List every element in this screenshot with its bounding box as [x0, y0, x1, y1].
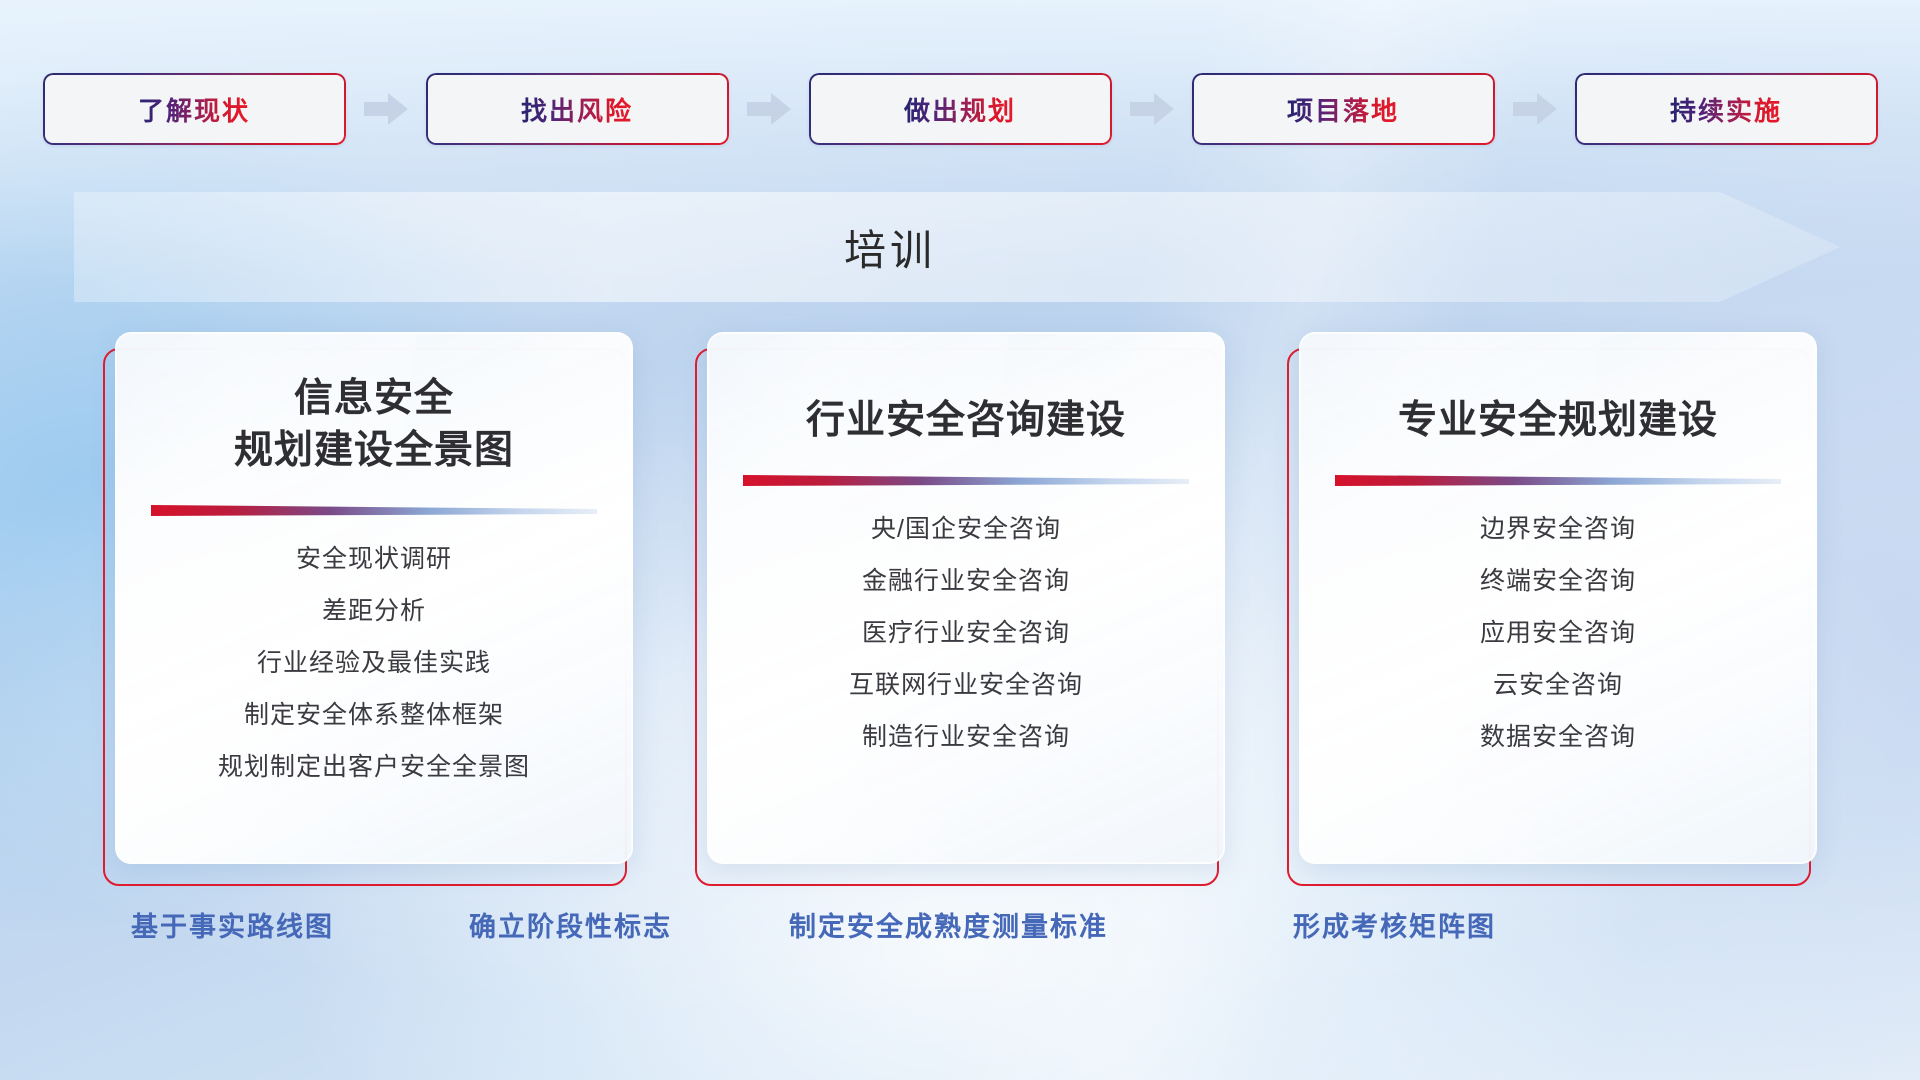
arrow-right-icon	[1513, 92, 1557, 126]
card-1-title: 信息安全 规划建设全景图	[116, 373, 632, 477]
card-3-panel[interactable]: 专业安全规划建设	[1299, 332, 1817, 864]
step-box-1[interactable]: 了解现状	[43, 73, 346, 145]
card-2-panel[interactable]: 行业安全咨询建设	[707, 332, 1225, 864]
list-item: 差距分析	[322, 599, 426, 624]
list-item: 行业经验及最佳实践	[257, 651, 491, 676]
list-item: 互联网行业安全咨询	[849, 673, 1083, 698]
list-item: 数据安全咨询	[1480, 725, 1636, 750]
caption-3: 制定安全成熟度测量标准	[789, 905, 1108, 944]
step-box-4[interactable]: 项目落地	[1192, 73, 1495, 145]
card-3[interactable]: 专业安全规划建设	[1287, 332, 1817, 892]
card-1-panel[interactable]: 信息安全 规划建设全景图	[115, 332, 633, 864]
gradient-divider-icon	[1335, 473, 1781, 489]
step-label-2: 找出风险	[521, 91, 633, 128]
list-item: 医疗行业安全咨询	[862, 621, 1070, 646]
list-item: 金融行业安全咨询	[862, 569, 1070, 594]
list-item: 安全现状调研	[296, 547, 452, 572]
banner-label: 培训	[844, 217, 936, 278]
arrow-right-icon	[747, 92, 791, 126]
list-item: 央/国企安全咨询	[871, 517, 1061, 542]
list-item: 制造行业安全咨询	[862, 725, 1070, 750]
caption-1: 基于事实路线图	[131, 905, 334, 944]
gradient-divider-icon	[743, 473, 1189, 489]
banner-label-wrapper: 培训	[0, 192, 1780, 302]
arrow-right-icon	[1130, 92, 1174, 126]
card-row: 信息安全 规划建设全景图	[0, 332, 1920, 892]
step-label-3: 做出规划	[904, 91, 1016, 128]
step-box-2[interactable]: 找出风险	[426, 73, 729, 145]
caption-4: 形成考核矩阵图	[1293, 905, 1496, 944]
card-2-title: 行业安全咨询建设	[708, 395, 1224, 447]
list-item: 规划制定出客户安全全景图	[218, 755, 530, 780]
list-item: 云安全咨询	[1493, 673, 1623, 698]
process-step-row: 了解现状 找出风险 做出规划 项目落地 持续实施	[0, 70, 1920, 148]
list-item: 边界安全咨询	[1480, 517, 1636, 542]
list-item: 应用安全咨询	[1480, 621, 1636, 646]
arrow-right-icon	[364, 92, 408, 126]
caption-row: 基于事实路线图 确立阶段性标志 制定安全成熟度测量标准 形成考核矩阵图	[0, 905, 1920, 961]
step-label-5: 持续实施	[1670, 91, 1782, 128]
card-2-list: 央/国企安全咨询 金融行业安全咨询 医疗行业安全咨询 互联网行业安全咨询 制造行…	[708, 517, 1224, 777]
step-label-1: 了解现状	[138, 91, 250, 128]
list-item: 制定安全体系整体框架	[244, 703, 504, 728]
card-2[interactable]: 行业安全咨询建设	[695, 332, 1225, 892]
step-label-4: 项目落地	[1287, 91, 1399, 128]
card-1-list: 安全现状调研 差距分析 行业经验及最佳实践 制定安全体系整体框架 规划制定出客户…	[116, 547, 632, 807]
card-1[interactable]: 信息安全 规划建设全景图	[103, 332, 633, 892]
step-box-3[interactable]: 做出规划	[809, 73, 1112, 145]
step-box-5[interactable]: 持续实施	[1575, 73, 1878, 145]
caption-2: 确立阶段性标志	[469, 905, 672, 944]
card-3-list: 边界安全咨询 终端安全咨询 应用安全咨询 云安全咨询 数据安全咨询	[1300, 517, 1816, 777]
gradient-divider-icon	[151, 503, 597, 519]
list-item: 终端安全咨询	[1480, 569, 1636, 594]
card-3-title: 专业安全规划建设	[1300, 395, 1816, 447]
